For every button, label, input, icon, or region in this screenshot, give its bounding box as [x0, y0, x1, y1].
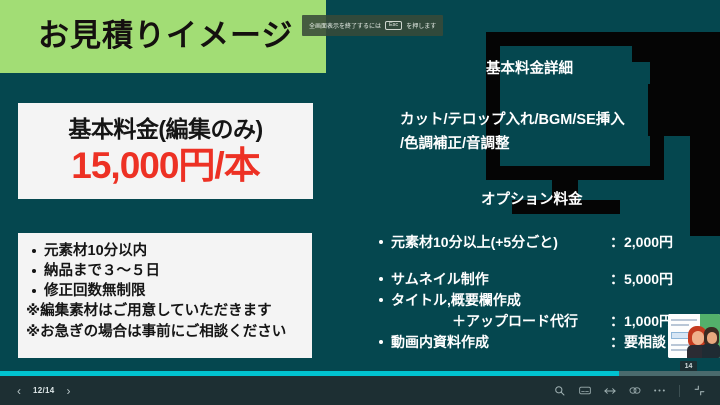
esc-key-badge: Esc	[385, 21, 402, 31]
base-price-card: 基本料金(編集のみ) 15,000円/本	[18, 103, 313, 199]
page-number-badge: 14	[680, 361, 697, 371]
webcam-person-two-body	[702, 344, 720, 358]
detail-section-heading: 基本料金詳細	[486, 57, 573, 78]
player-toolbar: ‹ 12/14 ›	[0, 376, 720, 405]
fit-width-icon[interactable]	[603, 384, 616, 397]
webcam-doc-line	[671, 324, 689, 326]
exit-fullscreen-tooltip: 全画面表示を終了するには Esc を押します	[302, 15, 443, 36]
conditions-card: 元素材10分以内 納品まで３〜５日 修正回数無制限 ※編集素材はご用意していただ…	[18, 233, 312, 358]
tooltip-suffix-text: を押します	[406, 21, 436, 30]
detail-section-body: カット/テロップ入れ/BGM/SE挿入 /色調補正/音調整	[400, 108, 675, 156]
link-icon[interactable]	[628, 384, 641, 397]
webcam-person-two-face	[707, 332, 717, 344]
exit-fullscreen-icon[interactable]	[693, 384, 706, 397]
presentation-fullscreen-view: お見積りイメージ 全画面表示を終了するには Esc を押します 基本料金(編集の…	[0, 0, 720, 405]
option-name: 元素材10分以上(+5分ごと)	[391, 232, 558, 253]
base-price-label: 基本料金(編集のみ)	[68, 114, 262, 144]
slide-canvas: お見積りイメージ 全画面表示を終了するには Esc を押します 基本料金(編集の…	[0, 0, 720, 371]
option-section-heading: オプション料金	[481, 188, 583, 209]
option-name: タイトル,概要欄作成	[391, 290, 521, 311]
tooltip-prefix-text: 全画面表示を終了するには	[309, 21, 381, 30]
option-price: ：5,000円	[610, 269, 673, 290]
slide-navigation-group: ‹ 12/14 ›	[14, 385, 74, 397]
detail-body-line: カット/テロップ入れ/BGM/SE挿入	[400, 108, 675, 132]
webcam-doc-line	[671, 319, 697, 321]
list-item: 動画内資料作成 ：要相談	[377, 332, 717, 353]
base-price-value: 15,000円/本	[71, 144, 259, 188]
search-icon[interactable]	[553, 384, 566, 397]
monitor-decoration-block-top	[632, 32, 720, 62]
option-name: ＋アップロード代行	[452, 311, 578, 332]
list-item: 納品まで３〜５日	[44, 261, 312, 281]
list-item: 元素材10分以上(+5分ごと) ：2,000円	[377, 232, 717, 253]
webcam-person-one-face	[692, 331, 704, 345]
list-item: サムネイル制作 ：5,000円	[377, 269, 717, 290]
webcam-doc-line	[671, 349, 687, 351]
option-name: 動画内資料作成	[391, 332, 489, 353]
option-price: ：2,000円	[610, 232, 673, 253]
list-item: ＋アップロード代行 ：1,000円	[377, 311, 717, 332]
option-name: サムネイル制作	[391, 269, 489, 290]
webcam-overlay[interactable]	[668, 314, 720, 358]
monitor-decoration-block-mid	[664, 62, 720, 84]
list-item: タイトル,概要欄作成	[377, 290, 717, 311]
toolbar-divider	[679, 385, 680, 397]
captions-icon[interactable]	[578, 384, 591, 397]
conditions-bullet-list: 元素材10分以内 納品まで３〜５日 修正回数無制限	[18, 241, 312, 301]
previous-slide-button[interactable]: ‹	[14, 385, 24, 397]
toolbar-icon-group	[553, 384, 706, 397]
list-item: 元素材10分以内	[44, 241, 312, 261]
conditions-note: ※編集素材はご用意していただきます	[18, 301, 312, 322]
list-item: 修正回数無制限	[44, 281, 312, 301]
next-slide-button[interactable]: ›	[64, 385, 74, 397]
more-options-icon[interactable]	[653, 384, 666, 397]
list-spacer	[377, 253, 717, 269]
conditions-note: ※お急ぎの場合は事前にご相談ください	[18, 322, 312, 343]
monitor-screen-icon	[486, 32, 664, 180]
slide-counter: 12/14	[33, 386, 55, 395]
detail-body-line: /色調補正/音調整	[400, 132, 675, 156]
option-price: ：要相談	[610, 332, 666, 353]
option-price: ：1,000円	[610, 311, 673, 332]
monitor-decoration-side-bar	[690, 136, 720, 236]
page-title: お見積りイメージ	[38, 10, 293, 62]
option-price-list: 元素材10分以上(+5分ごと) ：2,000円 サムネイル制作 ：5,000円 …	[377, 232, 717, 353]
